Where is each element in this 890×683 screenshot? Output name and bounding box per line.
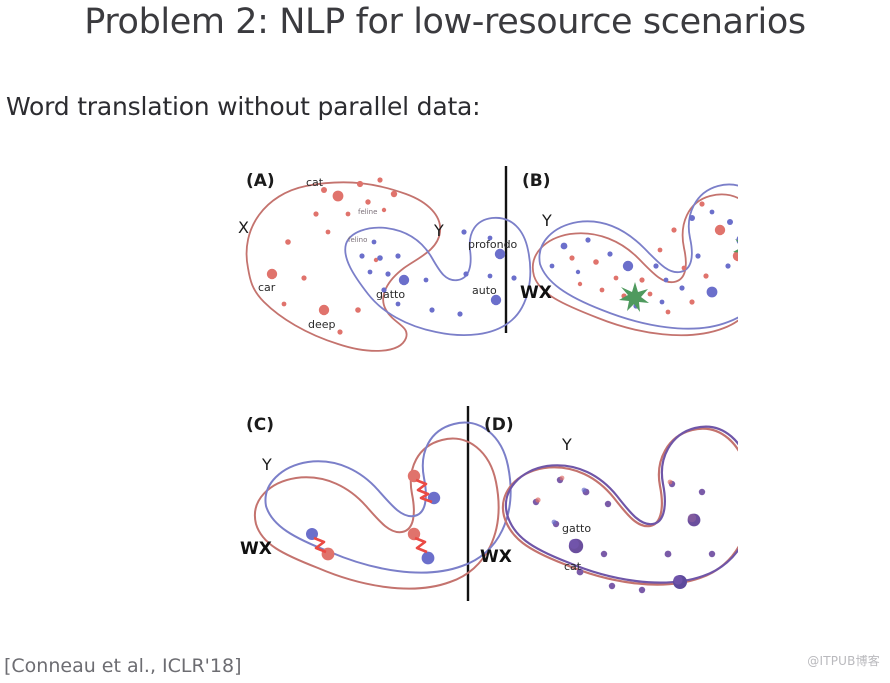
panel-c-space-label-y: Y bbox=[261, 455, 272, 474]
page-title: Problem 2: NLP for low-resource scenario… bbox=[0, 2, 890, 42]
panel-a: (A) bbox=[238, 171, 530, 351]
panel-a-word-deep: deep bbox=[308, 318, 336, 331]
panel-a-word-feline: feline bbox=[358, 208, 377, 216]
panel-d-merged-points bbox=[533, 476, 715, 594]
panel-a-word-gatto: gatto bbox=[376, 288, 405, 301]
panel-a-space-label-x: X bbox=[238, 218, 249, 237]
panel-a-red-points bbox=[267, 177, 397, 334]
panel-a-word-profondo: profondo bbox=[468, 238, 518, 251]
panel-a-word-cat: cat bbox=[306, 176, 324, 189]
panel-a-space-label-y: Y bbox=[433, 221, 444, 240]
panel-b-label: (B) bbox=[522, 171, 551, 191]
word-translation-figure: (A) bbox=[228, 158, 738, 618]
panel-a-word-car: car bbox=[258, 281, 276, 294]
panel-d-label: (D) bbox=[484, 415, 514, 435]
panel-b-space-label-wx: WX bbox=[520, 283, 552, 303]
panel-a-word-felino: felino bbox=[348, 236, 367, 244]
slide-root: Problem 2: NLP for low-resource scenario… bbox=[0, 0, 890, 683]
panel-d-blue-region bbox=[506, 427, 738, 583]
panel-d: (D) bbox=[480, 415, 738, 593]
panel-a-label: (A) bbox=[246, 171, 275, 191]
citation-reference: [Conneau et al., ICLR'18] bbox=[4, 655, 242, 677]
panel-c-label: (C) bbox=[246, 415, 274, 435]
panel-b: (B) bbox=[520, 171, 738, 335]
panel-d-word-cat: cat bbox=[564, 560, 582, 573]
panel-d-space-label-y: Y bbox=[561, 435, 572, 454]
watermark: @ITPUB博客 bbox=[807, 652, 880, 669]
slide-subtitle: Word translation without parallel data: bbox=[6, 92, 480, 121]
panel-d-word-gatto: gatto bbox=[562, 522, 591, 535]
panel-c: (C) bbox=[240, 415, 511, 589]
panel-b-space-label-y: Y bbox=[541, 211, 552, 230]
panel-a-word-auto: auto bbox=[472, 284, 497, 297]
panel-c-anchor-pair-3 bbox=[408, 528, 435, 565]
panel-b-red-region bbox=[533, 194, 738, 335]
panel-d-space-label-wx: WX bbox=[480, 547, 512, 567]
panel-c-space-label-wx: WX bbox=[240, 539, 272, 559]
panel-d-red-region bbox=[503, 429, 738, 585]
